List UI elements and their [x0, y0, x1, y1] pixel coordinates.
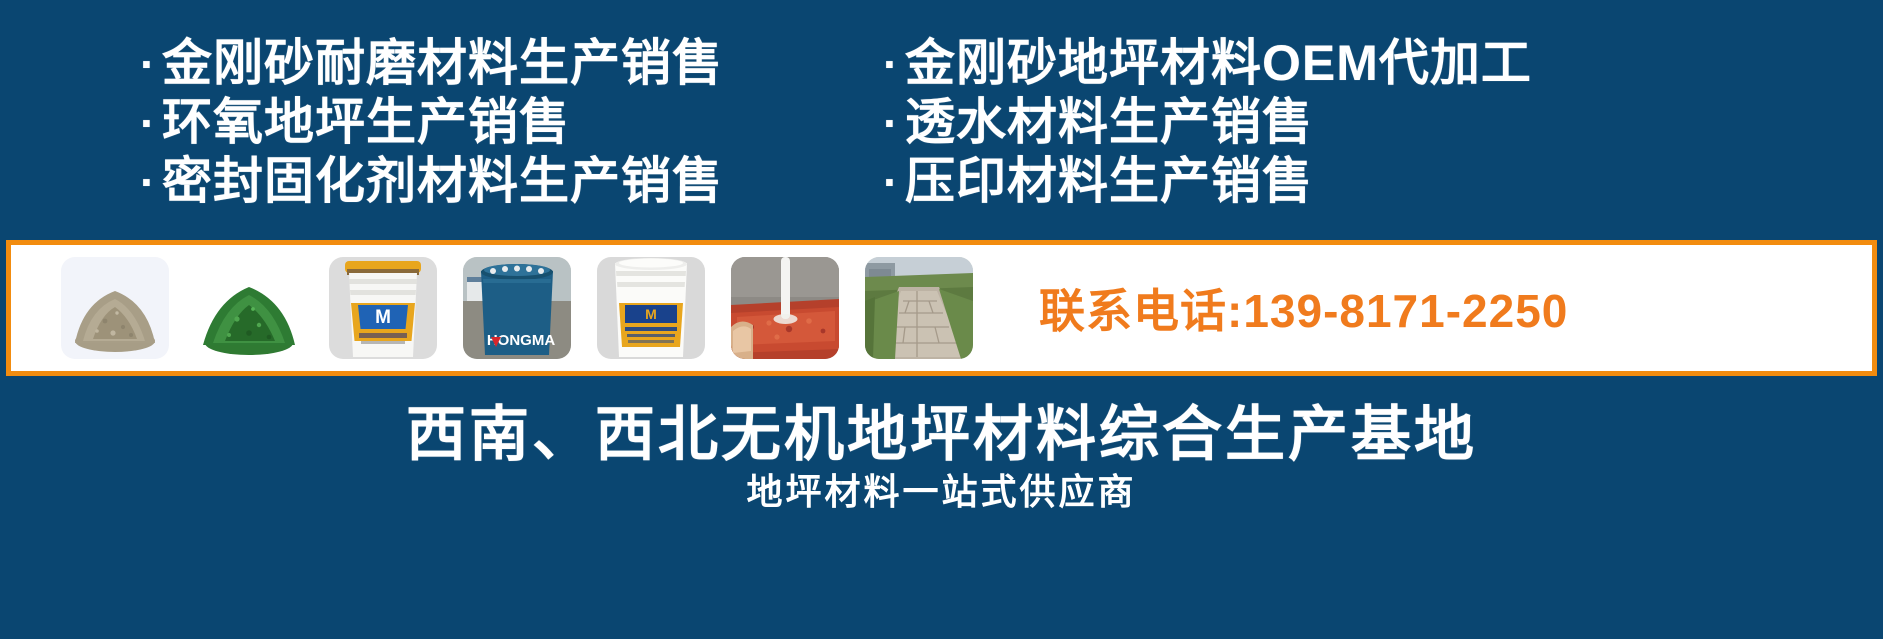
- bullet-icon: ·: [140, 35, 162, 93]
- services-right-column: · 金刚砂地坪材料OEM代加工 · 透水材料生产销售 · 压印材料生产销售: [870, 34, 1883, 234]
- bullet-icon: ·: [883, 35, 905, 93]
- bullet-icon: ·: [140, 94, 162, 152]
- grey-abrasive-powder-pile-thumbnail: [61, 257, 169, 359]
- service-item: · 环氧地坪生产销售: [140, 93, 870, 152]
- svg-text:M: M: [645, 306, 657, 322]
- contact-phone-number[interactable]: 联系电话:139-8171-2250: [1039, 275, 1568, 341]
- services-list: · 金刚砂耐磨材料生产销售 · 环氧地坪生产销售 · 密封固化剂材料生产销售 ·…: [0, 34, 1883, 234]
- bullet-icon: ·: [883, 153, 905, 211]
- service-label: 透水材料生产销售: [905, 93, 1313, 151]
- product-thumbnail-strip: M: [61, 257, 973, 359]
- service-item: · 压印材料生产销售: [883, 152, 1883, 211]
- svg-text:M: M: [375, 307, 391, 328]
- product-showcase-panel: M: [6, 240, 1877, 376]
- services-left-column: · 金刚砂耐磨材料生产销售 · 环氧地坪生产销售 · 密封固化剂材料生产销售: [0, 34, 870, 234]
- service-item: · 透水材料生产销售: [883, 93, 1883, 152]
- service-label: 压印材料生产销售: [905, 152, 1313, 210]
- concrete-sealer-bucket-thumbnail: M: [329, 257, 437, 359]
- sub-headline: 地坪材料一站式供应商: [0, 463, 1883, 515]
- service-label: 金刚砂耐磨材料生产销售: [162, 34, 723, 92]
- service-item: · 密封固化剂材料生产销售: [140, 152, 870, 211]
- epoxy-floor-paint-bucket-thumbnail: M: [597, 257, 705, 359]
- main-headline: 西南、西北无机地坪材料综合生产基地: [0, 386, 1883, 473]
- service-label: 金刚砂地坪材料OEM代加工: [905, 34, 1532, 92]
- hongma-blue-drum-thumbnail: HONGMA: [463, 257, 571, 359]
- service-item: · 金刚砂地坪材料OEM代加工: [883, 34, 1883, 93]
- permeable-red-material-thumbnail: [731, 257, 839, 359]
- green-abrasive-powder-pile-thumbnail: [195, 257, 303, 359]
- service-label: 密封固化剂材料生产销售: [162, 152, 723, 210]
- bullet-icon: ·: [140, 153, 162, 211]
- stamped-paving-walkway-thumbnail: [865, 257, 973, 359]
- service-label: 环氧地坪生产销售: [162, 93, 570, 151]
- service-item: · 金刚砂耐磨材料生产销售: [140, 34, 870, 93]
- bullet-icon: ·: [883, 94, 905, 152]
- promotional-banner: · 金刚砂耐磨材料生产销售 · 环氧地坪生产销售 · 密封固化剂材料生产销售 ·…: [0, 0, 1883, 639]
